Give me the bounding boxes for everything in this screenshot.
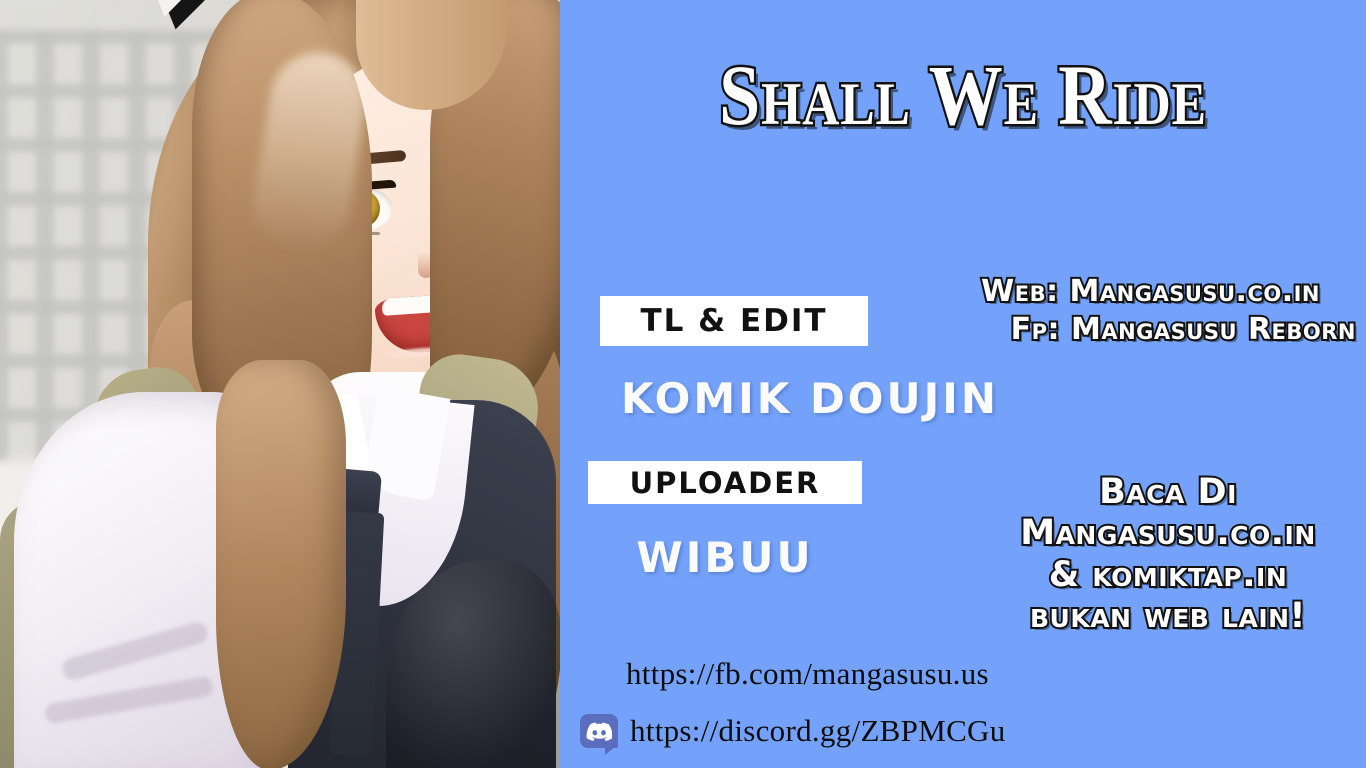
artwork-panel xyxy=(0,0,560,768)
read-notice-line-3: & komiktap.in xyxy=(970,555,1366,596)
uploader-role-box: UPLOADER xyxy=(588,461,862,504)
tl-edit-role-box: TL & EDIT xyxy=(600,296,868,346)
credits-page: Shall We Ride TL & EDIT KOMIK DOUJIN UPL… xyxy=(0,0,1366,768)
uploader-name: WIBUU xyxy=(560,537,890,579)
tl-edit-role-label: TL & EDIT xyxy=(640,303,827,339)
read-notice: Baca Di Mangasusu.co.in & komiktap.in bu… xyxy=(970,472,1366,637)
website-line: Web: Mangasusu.co.in xyxy=(981,276,1320,308)
read-notice-line-1: Baca Di xyxy=(970,472,1366,513)
info-panel: Shall We Ride TL & EDIT KOMIK DOUJIN UPL… xyxy=(560,0,1366,768)
series-title: Shall We Ride xyxy=(616,52,1309,138)
fanpage-line: Fp: Mangasusu Reborn xyxy=(1011,314,1356,346)
facebook-link[interactable]: https://fb.com/mangasusu.us xyxy=(626,656,989,692)
read-notice-line-4: bukan web lain! xyxy=(970,596,1366,637)
facebook-link-text: https://fb.com/mangasusu.us xyxy=(626,656,989,692)
uploader-role-label: UPLOADER xyxy=(630,466,821,500)
character-hair-strand-center xyxy=(216,360,346,768)
discord-link[interactable]: https://discord.gg/ZBPMCGu xyxy=(580,713,1006,749)
read-notice-line-2: Mangasusu.co.in xyxy=(970,513,1366,554)
discord-icon xyxy=(580,714,618,748)
tl-edit-name: KOMIK DOUJIN xyxy=(560,378,1060,420)
discord-link-text: https://discord.gg/ZBPMCGu xyxy=(630,713,1006,749)
